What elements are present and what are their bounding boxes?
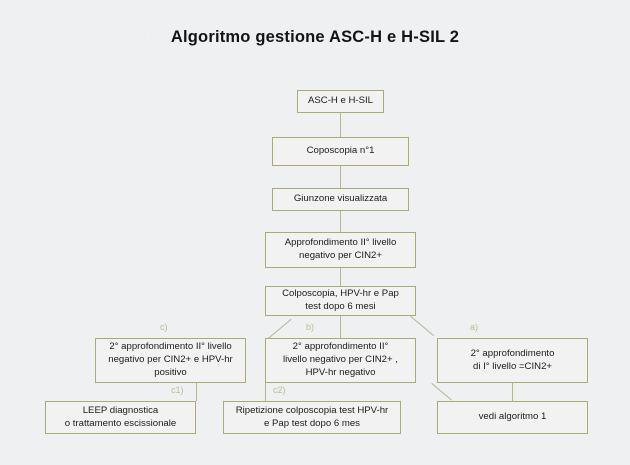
node-approfondimento-ii-negativo: Approfondimento II° livello negativo per… — [265, 232, 416, 268]
branch-label-c: c) — [160, 322, 168, 332]
node-branch-c: 2° approfondimento II° livello negativo … — [95, 338, 246, 383]
connector-n3-n4 — [340, 211, 341, 232]
node-colposcopia-1: Coposcopia n°1 — [272, 137, 409, 166]
node-leep-diagnostica: LEEP diagnostica o trattamento escission… — [45, 401, 196, 434]
connector-n4-n5 — [340, 268, 341, 286]
connector-n5-n7 — [340, 316, 341, 338]
connector-n2-n3 — [340, 166, 341, 188]
flowchart-canvas: Algoritmo gestione ASC-H e H-SIL 2 ASC-H… — [0, 0, 630, 465]
connector-n6-n9 — [196, 383, 197, 401]
node-asc-h-h-sil: ASC-H e H-SIL — [297, 90, 384, 113]
connector-n5-right-diagonal — [410, 316, 434, 336]
branch-label-c1: c1) — [171, 385, 184, 395]
node-giunzone-visualizzata: Giunzone visualizzata — [272, 188, 409, 211]
connector-right-lower-diagonal — [431, 383, 452, 400]
page-title: Algoritmo gestione ASC-H e H-SIL 2 — [0, 28, 630, 47]
connector-n8-n11 — [512, 383, 513, 401]
connector-n5-left-diagonal — [268, 319, 292, 339]
branch-label-b: b) — [306, 322, 314, 332]
node-branch-a: 2° approfondimento di I° livello =CIN2+ — [437, 338, 588, 383]
branch-label-c2: c2) — [273, 385, 286, 395]
node-vedi-algoritmo-1: vedi algoritmo 1 — [437, 401, 588, 434]
node-colposcopia-hpv-pap-6-mesi: Colposcopia, HPV-hr e Pap test dopo 6 me… — [265, 286, 416, 316]
connector-n1-n2 — [340, 113, 341, 137]
node-branch-b: 2° approfondimento II° livello negativo … — [265, 338, 416, 383]
node-ripetizione-colposcopia: Ripetizione colposcopia test HPV-hr e Pa… — [223, 401, 401, 434]
branch-label-a: a) — [470, 322, 478, 332]
connector-n7-n10 — [265, 383, 266, 401]
